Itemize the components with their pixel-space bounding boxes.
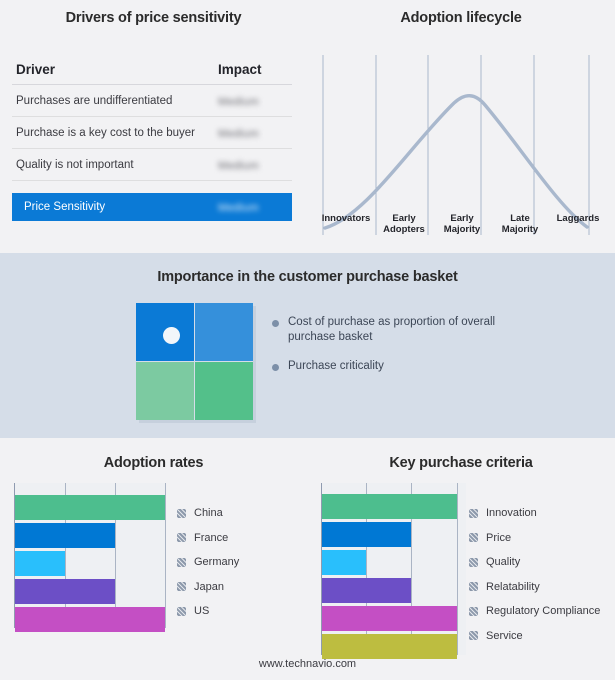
lifecycle-label-late-majority: Late Majority [491,213,549,235]
quadrant-bottom-right [195,362,253,420]
legend-label: Relatability [486,581,540,593]
bell-curve-svg [317,55,607,235]
basket-panel-title: Importance in the customer purchase bask… [0,269,615,285]
legend-swatch-icon [177,582,186,591]
adoption-panel-title: Adoption rates [0,455,307,471]
column-header-driver: Driver [16,62,218,77]
key-purchase-criteria-chart: Innovation Price Quality Relatability Re… [321,483,466,655]
drivers-panel-title: Drivers of price sensitivity [0,10,307,26]
lifecycle-panel-title: Adoption lifecycle [307,10,615,26]
legend-swatch-icon [469,582,478,591]
list-item: Innovation [469,501,600,526]
list-item: US [177,599,239,624]
adoption-legend: China France Germany Japan US [177,501,239,624]
bar-price[interactable] [322,522,411,547]
footer-url[interactable]: www.technavio.com [0,658,615,670]
list-item: Cost of purchase as proportion of overal… [272,315,592,345]
legend-swatch-icon [177,533,186,542]
bar-quality[interactable] [322,550,366,575]
list-item: Purchase criticality [272,359,592,374]
list-item: Price [469,526,600,551]
adoption-rates-panel: Adoption rates China [0,440,307,680]
bar-china[interactable] [15,495,165,520]
legend-swatch-icon [177,607,186,616]
bar-regulatory-compliance[interactable] [322,606,457,631]
basket-legend: Cost of purchase as proportion of overal… [272,315,592,388]
criteria-legend: Innovation Price Quality Relatability Re… [469,501,600,648]
key-purchase-criteria-panel: Key purchase criteria Innovation [307,440,615,680]
driver-label: Price Sensitivity [24,201,218,213]
legend-label: Innovation [486,507,537,519]
lifecycle-label-innovators: Innovators [317,213,375,235]
bar-france[interactable] [15,523,115,548]
basket-legend-label: Cost of purchase as proportion of overal… [288,315,528,345]
table-header-row: Driver Impact [12,62,292,85]
legend-swatch-icon [469,533,478,542]
quadrant-top-right [195,303,253,361]
legend-swatch-icon [469,509,478,518]
list-item: Japan [177,575,239,600]
list-item: Regulatory Compliance [469,599,600,624]
criteria-panel-title: Key purchase criteria [307,455,615,471]
bar-us[interactable] [15,607,165,632]
list-item: Quality [469,550,600,575]
list-item: China [177,501,239,526]
quadrant-matrix [136,303,253,420]
legend-swatch-icon [469,607,478,616]
lifecycle-label-early-adopters: Early Adopters [375,213,433,235]
infographic-page: Drivers of price sensitivity Driver Impa… [0,0,615,680]
legend-label: Japan [194,581,224,593]
list-item: Service [469,624,600,649]
bell-curve-chart [317,55,607,235]
legend-label: Price [486,532,511,544]
gridline-3 [457,483,458,655]
impact-value-text: Medium [218,128,259,140]
basket-legend-label: Purchase criticality [288,359,384,374]
list-item: Germany [177,550,239,575]
legend-label: Quality [486,556,520,568]
legend-label: France [194,532,228,544]
list-item: France [177,526,239,551]
legend-label: Regulatory Compliance [486,605,600,617]
bar-innovation[interactable] [322,494,457,519]
bar-japan[interactable] [15,579,115,604]
driver-label: Quality is not important [16,159,218,171]
criteria-plot-area [321,483,466,655]
drivers-of-price-sensitivity-panel: Drivers of price sensitivity Driver Impa… [0,0,307,250]
lifecycle-stage-labels: Innovators Early Adopters Early Majority… [317,213,607,235]
lifecycle-label-laggards: Laggards [549,213,607,235]
adoption-rates-chart: China France Germany Japan US [14,483,166,628]
list-item: Relatability [469,575,600,600]
legend-label: China [194,507,223,519]
purchase-basket-panel: Importance in the customer purchase bask… [0,253,615,438]
driver-label: Purchases are undifferentiated [16,95,218,107]
legend-swatch-icon [469,631,478,640]
table-row[interactable]: Purchase is a key cost to the buyer Medi… [12,117,292,149]
bullet-dot-icon [272,320,279,327]
position-marker-dot [163,327,180,344]
bullet-dot-icon [272,364,279,371]
quadrant-bottom-left [136,362,194,420]
bar-service[interactable] [322,634,457,659]
impact-value: Medium [218,124,288,142]
driver-label: Purchase is a key cost to the buyer [16,127,218,139]
impact-value-text: Medium [218,96,259,108]
impact-value: Medium [218,92,288,110]
table-row-highlighted-price-sensitivity[interactable]: Price Sensitivity Medium [12,193,292,221]
table-row[interactable]: Purchases are undifferentiated Medium [12,85,292,117]
legend-swatch-icon [469,558,478,567]
gridline-3 [165,483,166,628]
segment-divider-lines [323,55,589,235]
column-header-impact: Impact [218,62,288,77]
impact-value: Medium [218,156,288,174]
adoption-plot-area [14,483,166,628]
lifecycle-label-early-majority: Early Majority [433,213,491,235]
bar-germany[interactable] [15,551,65,576]
legend-swatch-icon [177,558,186,567]
legend-swatch-icon [177,509,186,518]
impact-value: Medium [218,198,288,216]
table-row[interactable]: Quality is not important Medium [12,149,292,181]
impact-value-text: Medium [218,202,259,214]
legend-label: Germany [194,556,239,568]
quadrant-top-left [136,303,194,361]
legend-label: Service [486,630,523,642]
legend-label: US [194,605,209,617]
drivers-table: Driver Impact Purchases are undifferenti… [12,62,292,221]
impact-value-text: Medium [218,160,259,172]
bell-curve-line [325,96,587,228]
bar-relatability[interactable] [322,578,411,603]
adoption-lifecycle-panel: Adoption lifecycle Innovators Early Adop… [307,0,615,250]
